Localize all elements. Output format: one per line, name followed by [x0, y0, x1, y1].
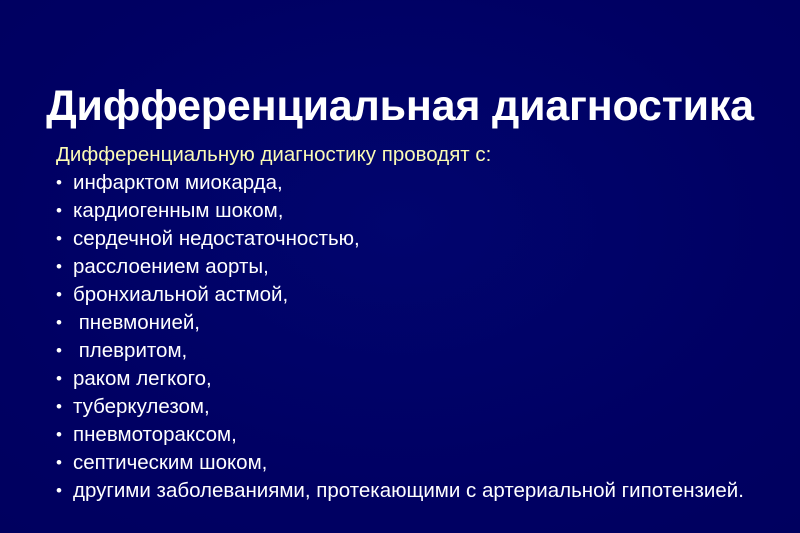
differential-diagnosis-list: •инфарктом миокарда, •кардиогенным шоком…: [56, 169, 756, 505]
list-item-label: плевритом,: [73, 339, 187, 362]
list-item: •бронхиальной астмой,: [56, 281, 756, 309]
list-item-label: пневмотораксом,: [73, 423, 237, 446]
list-item: •раком легкого,: [56, 365, 756, 393]
bullet-icon: •: [56, 337, 73, 365]
bullet-icon: •: [56, 169, 73, 197]
list-item-label: раком легкого,: [73, 367, 212, 390]
bullet-icon: •: [56, 225, 73, 253]
list-item-label: инфарктом миокарда,: [73, 171, 283, 194]
bullet-icon: •: [56, 421, 73, 449]
bullet-icon: •: [56, 477, 73, 505]
list-item: •расслоением аорты,: [56, 253, 756, 281]
list-item: •кардиогенным шоком,: [56, 197, 756, 225]
list-item-label: другими заболеваниями, протекающими с ар…: [73, 479, 744, 502]
list-item: •туберкулезом,: [56, 393, 756, 421]
list-item-label: септическим шоком,: [73, 451, 267, 474]
bullet-icon: •: [56, 309, 73, 337]
bullet-icon: •: [56, 365, 73, 393]
list-item: • пневмонией,: [56, 309, 756, 337]
list-item-label: бронхиальной астмой,: [73, 283, 288, 306]
intro-sentence: Дифференциальную диагностику проводят с:: [56, 141, 756, 169]
bullet-icon: •: [56, 281, 73, 309]
list-item-label: пневмонией,: [73, 311, 200, 334]
page-title: Дифференциальная диагностика: [0, 84, 800, 129]
list-item: • плевритом,: [56, 337, 756, 365]
bullet-icon: •: [56, 197, 73, 225]
list-item: •пневмотораксом,: [56, 421, 756, 449]
slide-canvas: Дифференциальная диагностика Дифференциа…: [0, 0, 800, 533]
list-item: •другими заболеваниями, протекающими с а…: [56, 477, 756, 505]
bullet-icon: •: [56, 449, 73, 477]
list-item-label: кардиогенным шоком,: [73, 199, 283, 222]
list-item: •сердечной недостаточностью,: [56, 225, 756, 253]
list-item-label: расслоением аорты,: [73, 255, 269, 278]
bullet-icon: •: [56, 393, 73, 421]
list-item-label: сердечной недостаточностью,: [73, 227, 360, 250]
content-body: Дифференциальную диагностику проводят с:…: [56, 141, 756, 505]
bullet-icon: •: [56, 253, 73, 281]
list-item: •септическим шоком,: [56, 449, 756, 477]
list-item-label: туберкулезом,: [73, 395, 210, 418]
list-item: •инфарктом миокарда,: [56, 169, 756, 197]
